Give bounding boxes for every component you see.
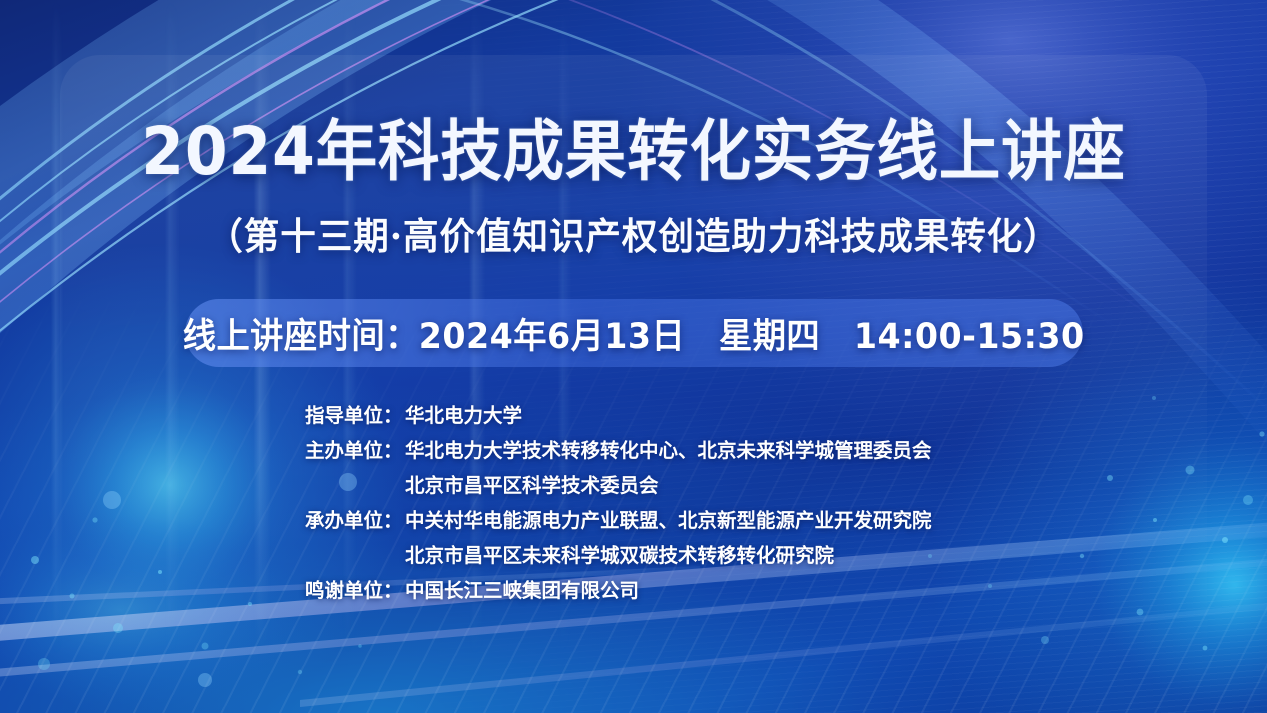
page-title: 2024年科技成果转化实务线上讲座 [44,98,1222,194]
time-banner: 线上讲座时间：2024年6月13日 星期四 14:00-15:30 [185,299,1083,367]
org-value: 北京市昌平区未来科学城双碳技术转移转化研究院 [405,538,834,573]
org-label: 承办单位： [305,503,405,538]
list-item: 鸣谢单位： 中国长江三峡集团有限公司 [305,573,932,608]
list-item: 主办单位： 北京市昌平区科学技术委员会 [305,468,932,503]
org-value: 中关村华电能源电力产业联盟、北京新型能源产业开发研究院 [405,503,932,538]
poster-canvas: 2024年科技成果转化实务线上讲座 （第十三期·高价值知识产权创造助力科技成果转… [0,0,1267,713]
list-item: 主办单位： 华北电力大学技术转移转化中心、北京未来科学城管理委员会 [305,433,932,468]
list-item: 指导单位： 华北电力大学 [305,398,932,433]
org-value: 华北电力大学技术转移转化中心、北京未来科学城管理委员会 [405,433,932,468]
org-label: 指导单位： [305,398,405,433]
list-item: 承办单位： 中关村华电能源电力产业联盟、北京新型能源产业开发研究院 [305,503,932,538]
org-value: 北京市昌平区科学技术委员会 [405,468,659,503]
time-banner-text: 线上讲座时间：2024年6月13日 星期四 14:00-15:30 [183,308,1085,359]
org-value: 华北电力大学 [405,398,522,433]
page-subtitle: （第十三期·高价值知识产权创造助力科技成果转化） [25,206,1241,260]
org-label: 鸣谢单位： [305,573,405,608]
org-value: 中国长江三峡集团有限公司 [405,573,639,608]
poster-content: 2024年科技成果转化实务线上讲座 （第十三期·高价值知识产权创造助力科技成果转… [0,0,1267,713]
org-label: 主办单位： [305,433,405,468]
organization-list: 指导单位： 华北电力大学 主办单位： 华北电力大学技术转移转化中心、北京未来科学… [305,398,932,608]
list-item: 承办单位： 北京市昌平区未来科学城双碳技术转移转化研究院 [305,538,932,573]
